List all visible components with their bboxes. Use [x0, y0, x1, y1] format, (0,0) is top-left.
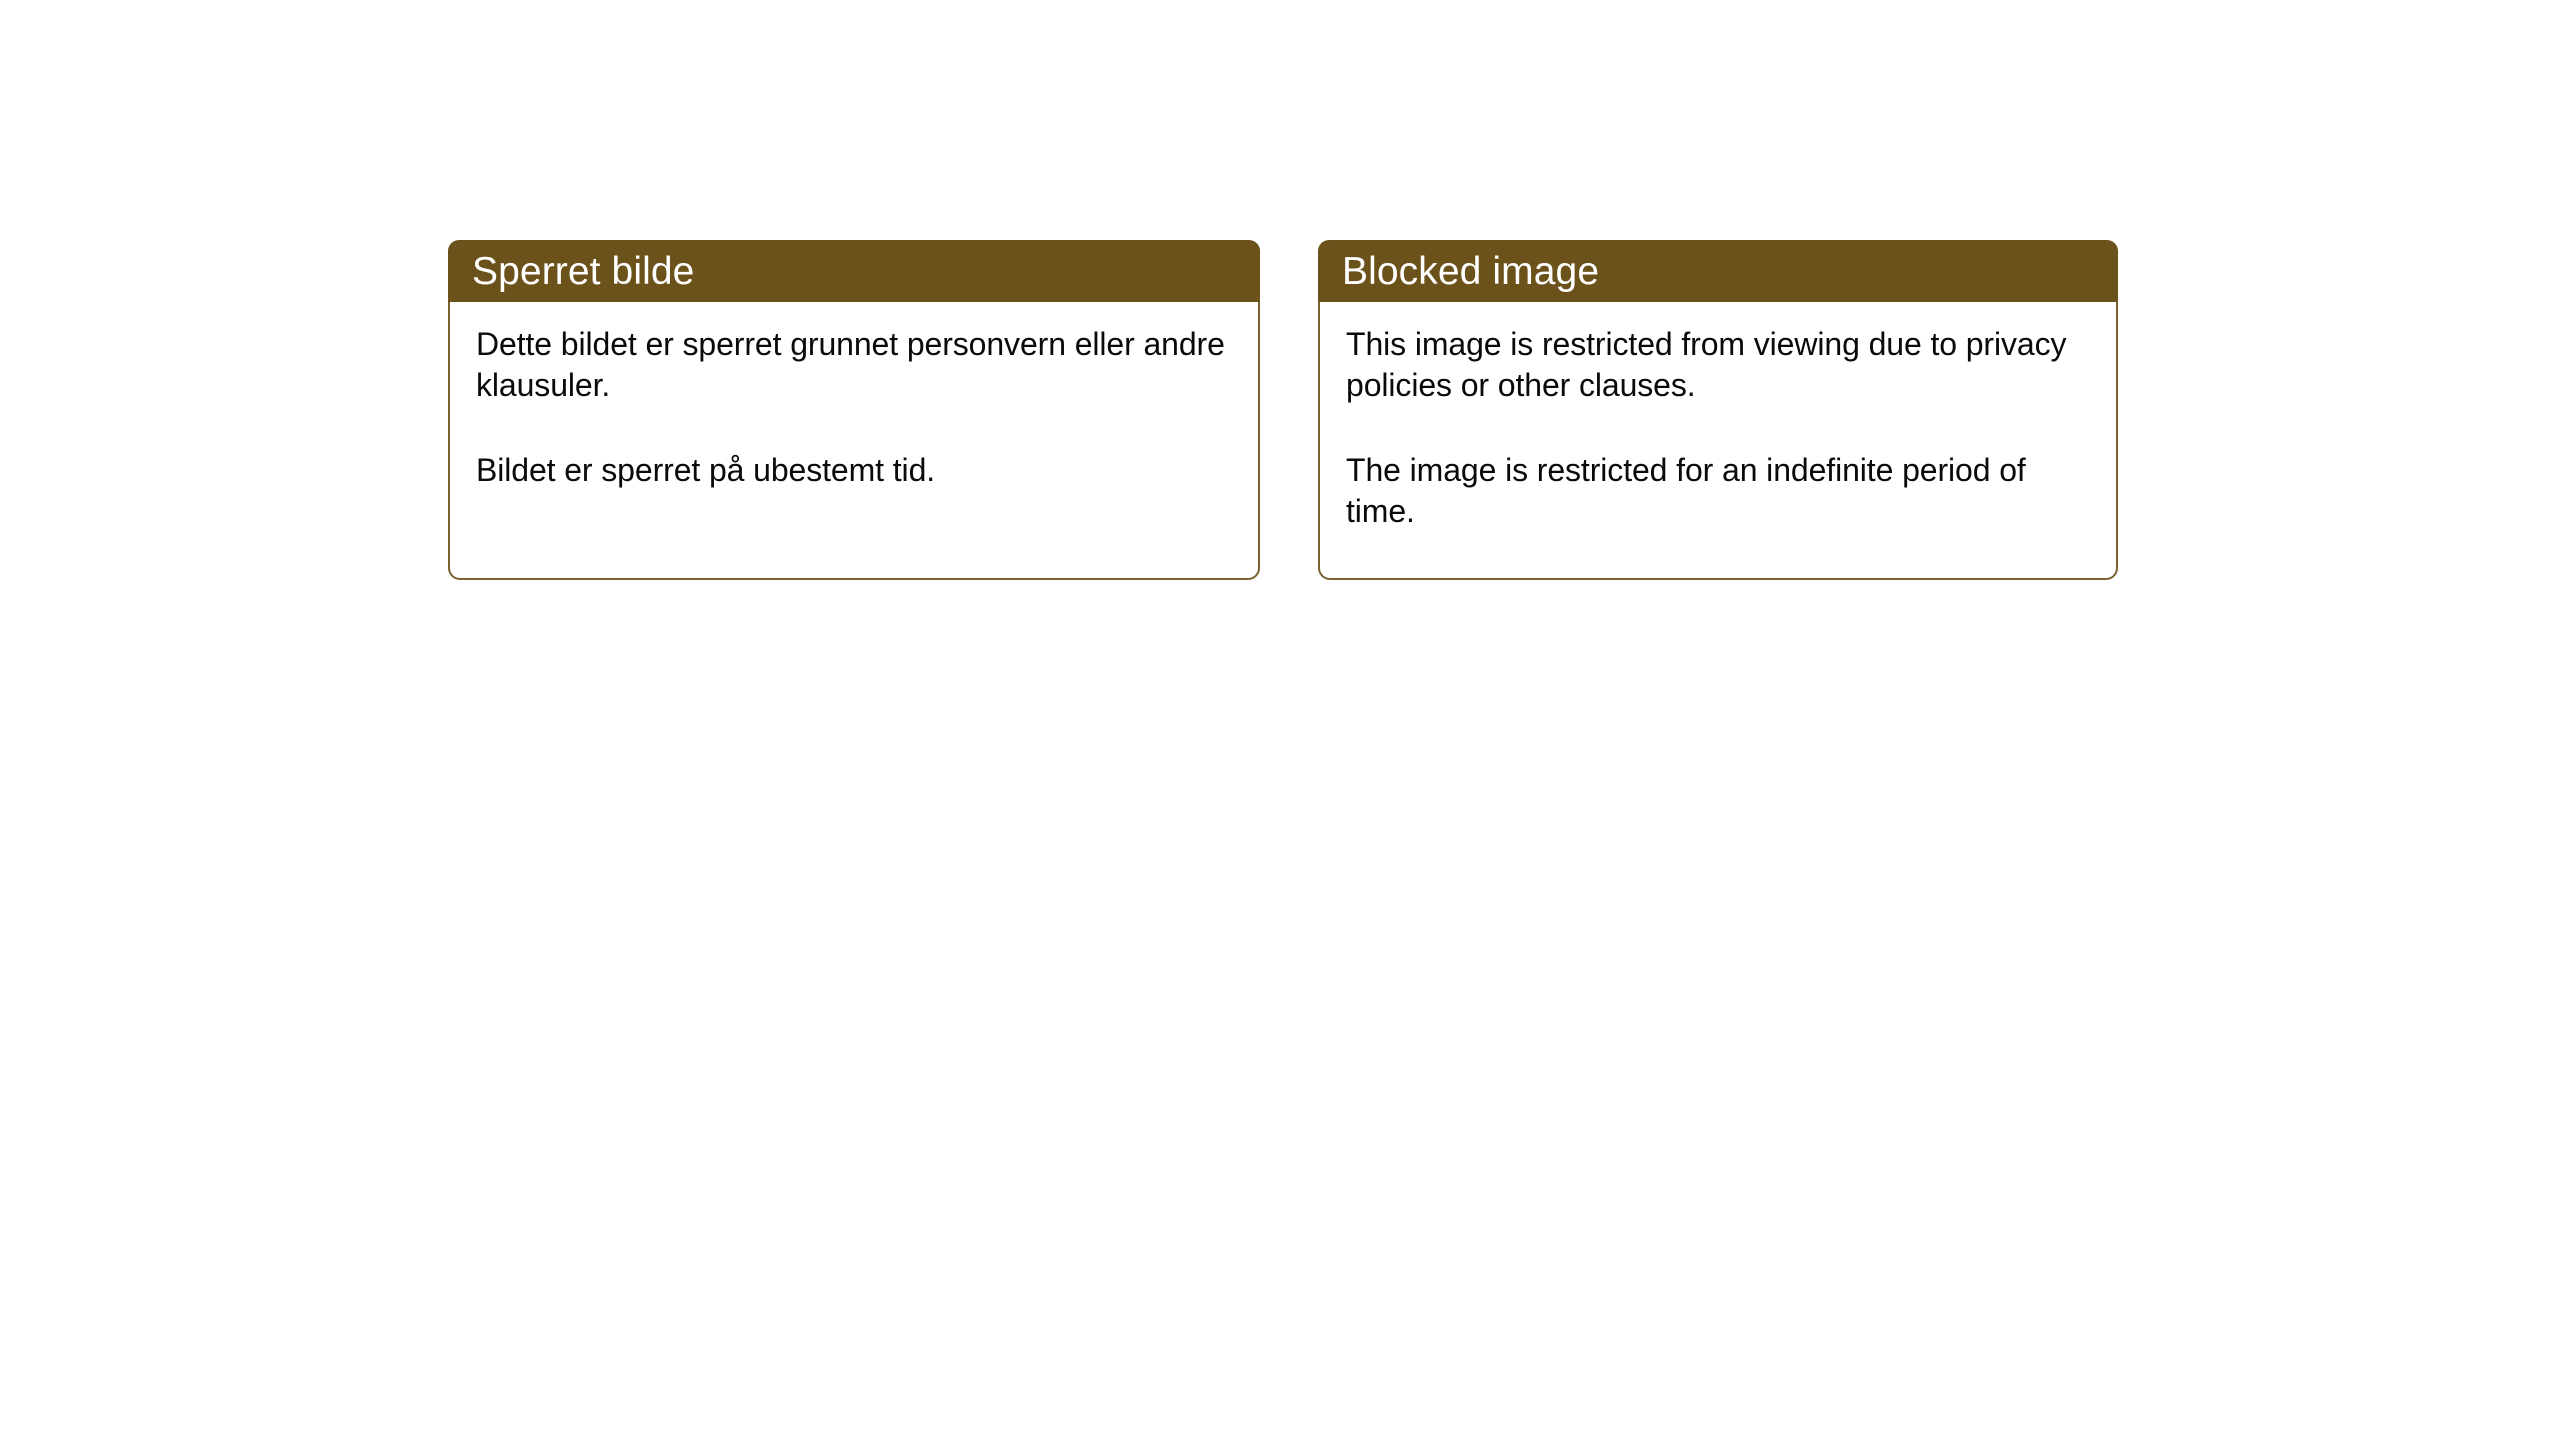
panel-title-norwegian: Sperret bilde [472, 252, 694, 291]
notice-paragraph-primary-norwegian: Dette bildet er sperret grunnet personve… [476, 324, 1236, 406]
blocked-image-notice-norwegian: Sperret bilde Dette bildet er sperret gr… [448, 240, 1260, 580]
panel-body-norwegian: Dette bildet er sperret grunnet personve… [448, 302, 1260, 580]
page-canvas: Sperret bilde Dette bildet er sperret gr… [0, 0, 2560, 1440]
panel-title-english: Blocked image [1342, 252, 1599, 291]
notice-paragraph-primary-english: This image is restricted from viewing du… [1346, 324, 2094, 406]
panel-body-english: This image is restricted from viewing du… [1318, 302, 2118, 580]
panel-header-norwegian: Sperret bilde [448, 240, 1260, 302]
notice-paragraph-secondary-norwegian: Bildet er sperret på ubestemt tid. [476, 450, 1236, 491]
panel-header-english: Blocked image [1318, 240, 2118, 302]
blocked-image-notice-english: Blocked image This image is restricted f… [1318, 240, 2118, 580]
notice-paragraph-secondary-english: The image is restricted for an indefinit… [1346, 450, 2094, 532]
